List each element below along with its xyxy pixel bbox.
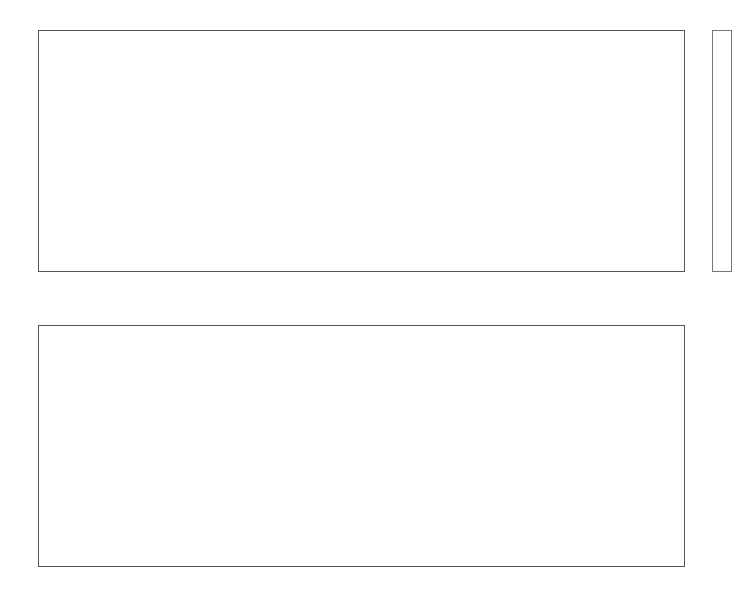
figure-root	[0, 0, 750, 600]
snr-canvas	[39, 326, 684, 566]
spectrogram-canvas	[39, 31, 684, 271]
spectrogram-panel	[38, 30, 685, 272]
snr-plot-area	[39, 326, 684, 566]
colorbar-gradient	[713, 31, 731, 271]
colorbar	[712, 30, 732, 272]
snr-panel	[38, 325, 685, 567]
spectrogram-plot-area	[39, 31, 684, 271]
